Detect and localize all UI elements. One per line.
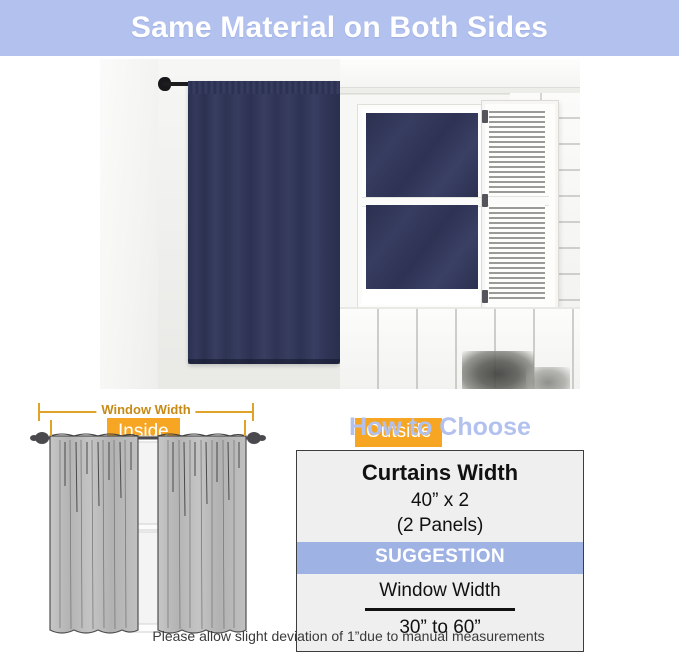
curtains-width-value: 40” x 2 [297, 488, 583, 514]
exterior-window-frame [358, 105, 494, 309]
interior-wall-left [100, 59, 158, 389]
inside-photo [100, 59, 340, 389]
shutter-hinge-icon [482, 290, 488, 303]
measure-end-cap-right [252, 403, 254, 421]
page-title: Same Material on Both Sides [131, 11, 548, 45]
how-to-choose-section: Window Width [0, 396, 679, 655]
measurement-disclaimer: Please allow slight deviation of 1”due t… [0, 628, 679, 644]
photo-comparison-row: Inside Outside [0, 59, 679, 389]
shutter-louvers-lower [489, 204, 545, 300]
divider-rule [365, 608, 515, 611]
curtains-width-label: Curtains Width [297, 457, 583, 488]
suggestion-banner: SUGGESTION [297, 542, 583, 573]
exterior-louvered-shutter [482, 101, 558, 313]
how-to-choose-panel: How to Choose Curtains Width 40” x 2 (2 … [290, 414, 590, 652]
outside-photo [340, 59, 580, 389]
window-pane-upper [366, 113, 478, 197]
header-banner: Same Material on Both Sides [0, 0, 679, 56]
window-width-label: Window Width [297, 574, 583, 606]
how-to-choose-title: How to Choose [290, 414, 590, 442]
measure-end-cap-left [38, 403, 40, 421]
exterior-shrub [526, 367, 570, 389]
shutter-hinge-icon [482, 194, 488, 207]
panel-count-value: (2 Panels) [297, 514, 583, 542]
navy-curtain-panel [188, 81, 340, 364]
curtain-hem [188, 359, 340, 364]
shutter-louvers-upper [489, 108, 545, 196]
size-spec-table: Curtains Width 40” x 2 (2 Panels) SUGGES… [296, 450, 584, 653]
window-width-measure-label: Window Width [96, 402, 195, 417]
window-pane-lower [366, 205, 478, 289]
shutter-hinge-icon [482, 110, 488, 123]
curtain-rod-pocket [188, 81, 340, 94]
curtain-panels-diagram [24, 420, 272, 648]
exterior-shrub [462, 351, 534, 389]
window-width-measure: Window Width [36, 402, 256, 422]
